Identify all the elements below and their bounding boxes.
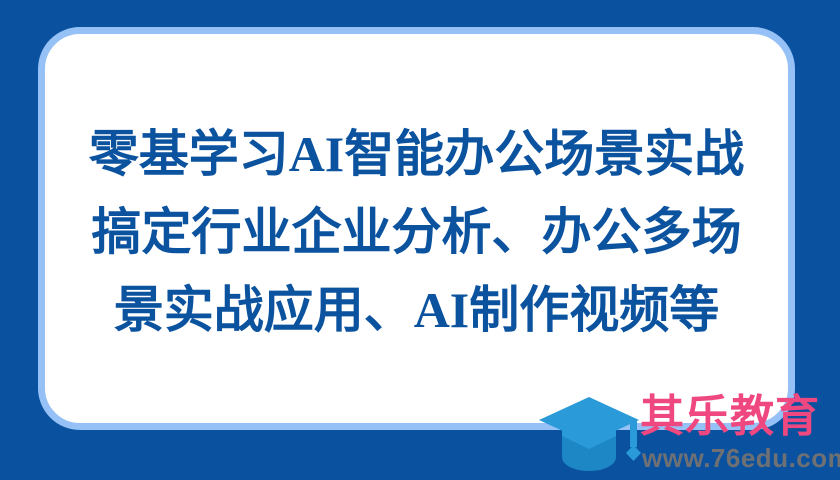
brand-text-block: 其乐教育 www.76edu.com bbox=[640, 389, 840, 473]
graduation-cap-icon bbox=[534, 391, 644, 479]
brand-url: www.76edu.com bbox=[642, 443, 840, 473]
brand-logo: 其乐教育 www.76edu.com bbox=[534, 389, 840, 480]
brand-name: 其乐教育 bbox=[640, 393, 840, 441]
content-card bbox=[38, 27, 795, 430]
poster-canvas: 零基学习AI智能办公场景实战 搞定行业企业分析、办公多场 景实战应用、AI制作视… bbox=[0, 0, 840, 480]
